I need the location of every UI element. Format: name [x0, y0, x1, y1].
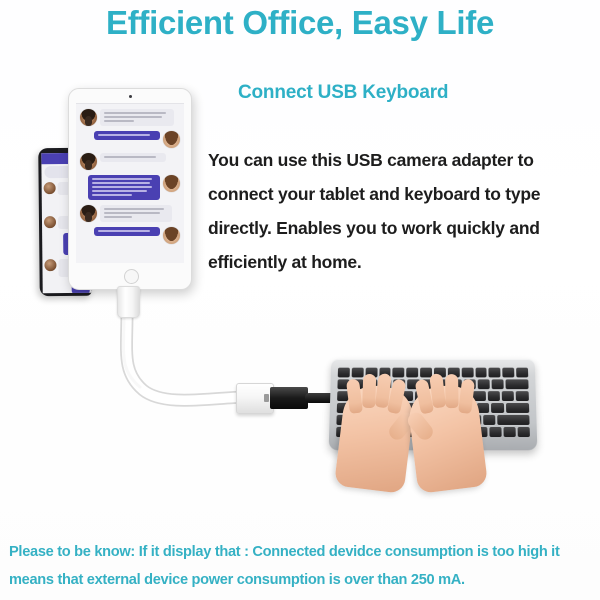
keyboard-usb-a-plug [270, 387, 308, 409]
finger [458, 379, 475, 414]
avatar [163, 131, 180, 148]
chat-row [80, 175, 180, 200]
promo-image-canvas: Efficient Office, Easy Life Connect USB … [0, 0, 600, 600]
chat-row [80, 227, 180, 244]
chat-bubble [100, 109, 174, 126]
front-camera-icon [129, 95, 132, 98]
chat-row [80, 131, 180, 148]
avatar [44, 182, 56, 194]
finger [445, 374, 459, 408]
chat-row [80, 205, 180, 222]
body-description: You can use this USB camera adapter to c… [208, 143, 586, 279]
chat-row [80, 153, 180, 170]
chat-bubble [94, 227, 160, 236]
lightning-connector [117, 286, 140, 318]
page-title: Efficient Office, Easy Life [0, 4, 600, 42]
chat-bubble [100, 153, 166, 162]
avatar [44, 216, 56, 228]
avatar [80, 153, 97, 170]
home-button [124, 269, 139, 284]
chat-bubble [100, 205, 172, 222]
usb-a-female-port [236, 383, 274, 414]
avatar [80, 109, 97, 126]
avatar [80, 205, 97, 222]
avatar [44, 259, 56, 271]
chat-bubble [88, 175, 160, 200]
avatar [163, 175, 180, 192]
avatar [163, 227, 180, 244]
white-tablet [68, 88, 192, 290]
footer-disclaimer: Please to be know: If it display that : … [9, 538, 595, 594]
chat-row [80, 109, 180, 126]
section-subtitle: Connect USB Keyboard [238, 82, 448, 104]
tablet-screen [76, 103, 184, 263]
chat-bubble [94, 131, 160, 140]
finger [362, 374, 376, 408]
